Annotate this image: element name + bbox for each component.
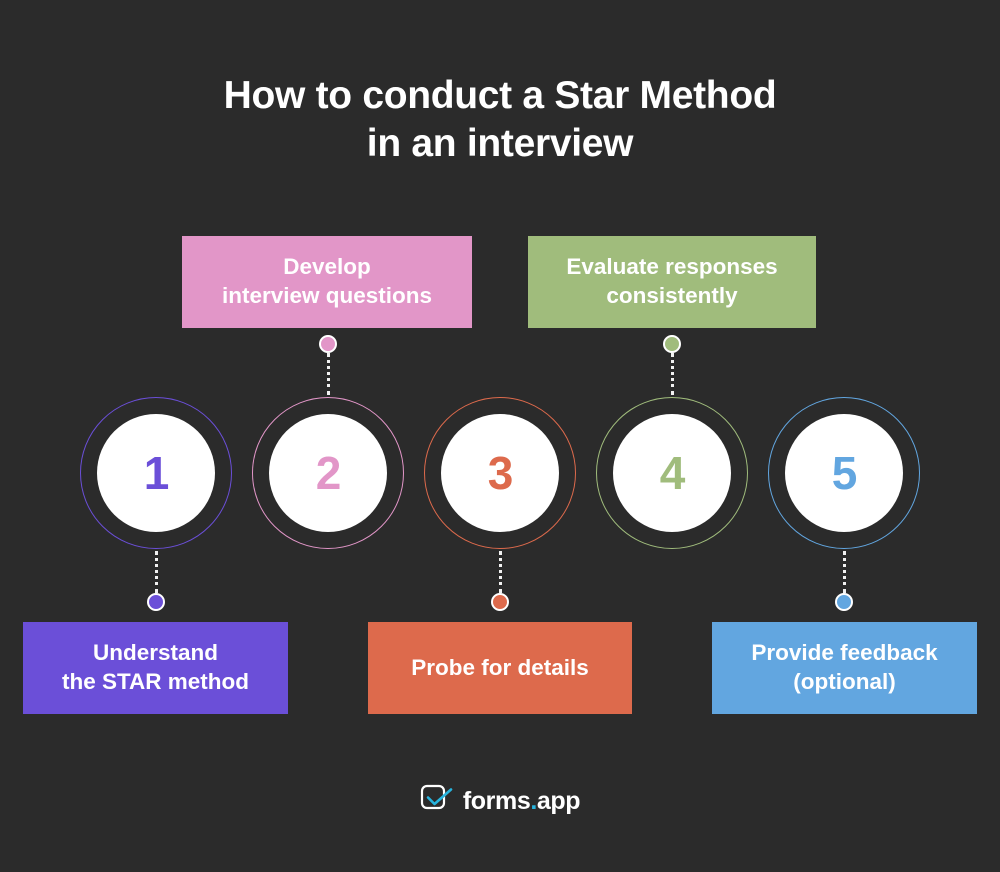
step-label-2-line-2: interview questions	[222, 282, 432, 311]
connector-step-2	[315, 335, 341, 395]
connector-step-1	[143, 551, 169, 611]
step-label-1-line-2: the STAR method	[62, 668, 249, 697]
step-label-box-5[interactable]: Provide feedback (optional)	[712, 622, 977, 714]
step-label-box-2[interactable]: Develop interview questions	[182, 236, 472, 328]
brand-wordmark: forms.app	[463, 787, 580, 816]
step-label-4-line-2: consistently	[566, 282, 777, 311]
step-circle-inner-5: 5	[785, 414, 903, 532]
step-circle-inner-3: 3	[441, 414, 559, 532]
step-circle-inner-1: 1	[97, 414, 215, 532]
page-title-line-1: How to conduct a Star Method	[0, 72, 1000, 120]
footer-branding: forms.app	[0, 783, 1000, 820]
step-label-box-1[interactable]: Understand the STAR method	[23, 622, 288, 714]
brand-text-app: app	[537, 787, 580, 815]
step-number-5: 5	[832, 450, 857, 496]
step-circle-4[interactable]: 4	[596, 397, 748, 549]
step-circle-3[interactable]: 3	[424, 397, 576, 549]
step-label-2-line-1: Develop	[222, 253, 432, 282]
connector-dotted-line-4	[671, 353, 674, 395]
step-label-5-line-2: (optional)	[751, 668, 937, 697]
step-label-5-line-1: Provide feedback	[751, 639, 937, 668]
connector-dotted-line-3	[499, 551, 502, 593]
step-number-4: 4	[660, 450, 685, 496]
page-title: How to conduct a Star Method in an inter…	[0, 72, 1000, 167]
forms-app-check-icon	[420, 783, 454, 820]
connector-dot-2	[319, 335, 337, 353]
step-label-3-line-1: Probe for details	[411, 654, 589, 683]
connector-dot-3	[491, 593, 509, 611]
step-circle-inner-2: 2	[269, 414, 387, 532]
connector-dotted-line-5	[843, 551, 846, 593]
connector-dotted-line-2	[327, 353, 330, 395]
connector-step-3	[487, 551, 513, 611]
connector-step-4	[659, 335, 685, 395]
step-label-box-4[interactable]: Evaluate responses consistently	[528, 236, 816, 328]
step-label-4-line-1: Evaluate responses	[566, 253, 777, 282]
step-label-box-3[interactable]: Probe for details	[368, 622, 632, 714]
brand-text-forms: forms	[463, 787, 530, 815]
step-number-1: 1	[144, 450, 169, 496]
step-circle-inner-4: 4	[613, 414, 731, 532]
connector-step-5	[831, 551, 857, 611]
connector-dot-4	[663, 335, 681, 353]
step-number-3: 3	[488, 450, 513, 496]
connector-dotted-line-1	[155, 551, 158, 593]
connector-dot-1	[147, 593, 165, 611]
step-circle-1[interactable]: 1	[80, 397, 232, 549]
step-circle-5[interactable]: 5	[768, 397, 920, 549]
connector-dot-5	[835, 593, 853, 611]
page-title-line-2: in an interview	[0, 120, 1000, 168]
step-circle-2[interactable]: 2	[252, 397, 404, 549]
step-label-1-line-1: Understand	[62, 639, 249, 668]
step-number-2: 2	[316, 450, 341, 496]
